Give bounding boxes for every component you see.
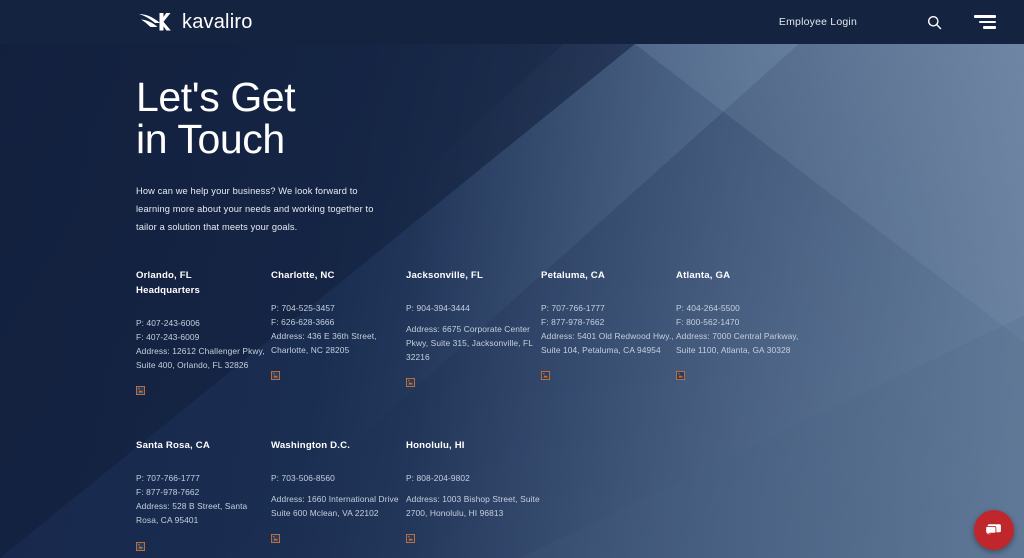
page-title: Let's Get in Touch (136, 76, 295, 160)
search-icon[interactable] (927, 15, 942, 30)
location-phone: P: 707-766-1777 (136, 471, 270, 485)
map-pin-icon[interactable] (136, 386, 145, 395)
location-details: P: 707-766-1777F: 877-978-7662Address: 5… (136, 471, 270, 527)
location-address: Address: 1660 International Drive Suite … (271, 492, 405, 520)
location-phone: P: 404-264-5500 (676, 301, 810, 315)
location-fax-spacer (271, 485, 405, 492)
location-name: Petaluma, CA (541, 269, 675, 284)
search-glyph (927, 15, 942, 30)
location-address: Address: 7000 Central Parkway, Suite 110… (676, 329, 810, 357)
location-name: Jacksonville, FL (406, 269, 540, 284)
location-fax: F: 407-243-6009 (136, 330, 270, 344)
location-address: Address: 5401 Old Redwood Hwy., Suite 10… (541, 329, 675, 357)
site-header: kavaliro Employee Login (0, 0, 1024, 44)
map-pin-icon[interactable] (136, 542, 145, 551)
location-fax-spacer (406, 315, 540, 322)
location-fax-spacer (406, 485, 540, 492)
header-actions: Employee Login (779, 0, 1024, 44)
location-card: Orlando, FL HeadquartersP: 407-243-6006F… (136, 269, 270, 395)
location-name: Washington D.C. (271, 439, 405, 454)
location-card: Charlotte, NCP: 704-525-3457F: 626-628-3… (271, 269, 405, 395)
location-name: Orlando, FL Headquarters (136, 269, 270, 299)
brand-logo-link[interactable]: kavaliro (138, 11, 253, 34)
location-card: Santa Rosa, CAP: 707-766-1777F: 877-978-… (136, 439, 270, 550)
location-address: Address: 436 E 36th Street, Charlotte, N… (271, 329, 405, 357)
hamburger-menu-icon[interactable] (974, 15, 996, 29)
map-pin-icon[interactable] (271, 534, 280, 543)
location-address: Address: 6675 Corporate Center Pkwy, Sui… (406, 322, 540, 364)
location-details: P: 904-394-3444Address: 6675 Corporate C… (406, 301, 540, 364)
location-card: Petaluma, CAP: 707-766-1777F: 877-978-76… (541, 269, 675, 395)
location-name: Honolulu, HI (406, 439, 540, 454)
location-phone: P: 904-394-3444 (406, 301, 540, 315)
location-fax: F: 877-978-7662 (136, 485, 270, 499)
location-details: P: 703-506-8560Address: 1660 Internation… (271, 471, 405, 520)
location-phone: P: 707-766-1777 (541, 301, 675, 315)
location-details: P: 704-525-3457F: 626-628-3666Address: 4… (271, 301, 405, 357)
location-name: Santa Rosa, CA (136, 439, 270, 454)
location-address: Address: 12612 Challenger Pkwy, Suite 40… (136, 344, 270, 372)
location-details: P: 407-243-6006F: 407-243-6009Address: 1… (136, 316, 270, 372)
location-card: Jacksonville, FLP: 904-394-3444Address: … (406, 269, 540, 395)
location-fax: F: 800-562-1470 (676, 315, 810, 329)
location-fax: F: 877-978-7662 (541, 315, 675, 329)
locations-grid: Orlando, FL HeadquartersP: 407-243-6006F… (136, 269, 926, 551)
map-pin-icon[interactable] (406, 534, 415, 543)
hero-description: How can we help your business? We look f… (136, 182, 388, 236)
location-phone: P: 704-525-3457 (271, 301, 405, 315)
page-content: Let's Get in Touch How can we help your … (0, 44, 1024, 558)
menu-line-top (974, 15, 996, 18)
location-name: Charlotte, NC (271, 269, 405, 284)
chat-widget-button[interactable] (974, 510, 1014, 550)
map-pin-icon[interactable] (676, 371, 685, 380)
brand-wordmark: kavaliro (182, 11, 253, 34)
map-pin-icon[interactable] (271, 371, 280, 380)
kavaliro-k-swoosh-logo-icon (138, 11, 172, 33)
location-address: Address: 528 B Street, Santa Rosa, CA 95… (136, 499, 270, 527)
location-phone: P: 407-243-6006 (136, 316, 270, 330)
chat-bubble-icon (984, 520, 1004, 540)
location-details: P: 808-204-9802Address: 1003 Bishop Stre… (406, 471, 540, 520)
menu-line-middle (979, 21, 996, 24)
location-phone: P: 808-204-9802 (406, 471, 540, 485)
location-name: Atlanta, GA (676, 269, 810, 284)
employee-login-link[interactable]: Employee Login (779, 16, 857, 28)
location-details: P: 404-264-5500F: 800-562-1470Address: 7… (676, 301, 810, 357)
location-card: Washington D.C.P: 703-506-8560Address: 1… (271, 439, 405, 550)
location-fax: F: 626-628-3666 (271, 315, 405, 329)
location-address: Address: 1003 Bishop Street, Suite 2700,… (406, 492, 540, 520)
location-card: Atlanta, GAP: 404-264-5500F: 800-562-147… (676, 269, 810, 395)
location-details: P: 707-766-1777F: 877-978-7662Address: 5… (541, 301, 675, 357)
map-pin-icon[interactable] (406, 378, 415, 387)
location-card: Honolulu, HIP: 808-204-9802Address: 1003… (406, 439, 540, 550)
menu-line-bottom (983, 26, 996, 29)
map-pin-icon[interactable] (541, 371, 550, 380)
location-phone: P: 703-506-8560 (271, 471, 405, 485)
